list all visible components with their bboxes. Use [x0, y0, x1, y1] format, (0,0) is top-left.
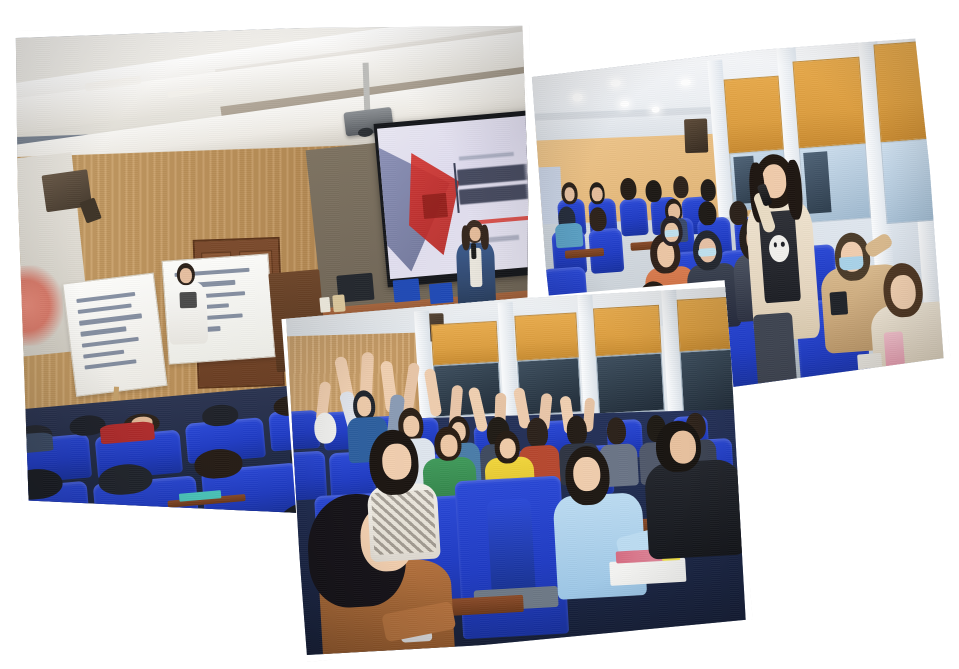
pink-thermos-bottle [883, 331, 905, 373]
patterned-top-print [371, 489, 436, 554]
desk-jar [332, 294, 346, 312]
microphone-icon [471, 243, 477, 259]
assistant-body [167, 282, 208, 345]
presenter-hair [480, 225, 490, 250]
wall-light-patch [13, 265, 65, 346]
hands-raised-photo[interactable] [278, 280, 753, 663]
equipment-case [429, 283, 454, 305]
paper-cup [320, 297, 331, 313]
smartphone-icon [829, 291, 848, 316]
thermos-woman-face [890, 274, 917, 309]
slide-logo-badge [422, 193, 448, 219]
black-jacket-face [669, 430, 697, 464]
assistant-shirt-print [180, 292, 198, 308]
black-jacket-body [644, 458, 746, 560]
foreground-people [286, 287, 747, 655]
presenter-face [469, 227, 480, 241]
cup [857, 353, 882, 382]
equipment-case [393, 279, 420, 303]
blue-hoodie-face [573, 456, 601, 492]
presenter-hair [461, 226, 471, 251]
collage-canvas [0, 0, 959, 669]
patterned-top-face [382, 442, 412, 480]
slide-accent-rule [476, 215, 540, 225]
assistant-face [180, 268, 192, 283]
whiteboard-left [62, 273, 167, 397]
hands-raised-image [286, 287, 747, 655]
